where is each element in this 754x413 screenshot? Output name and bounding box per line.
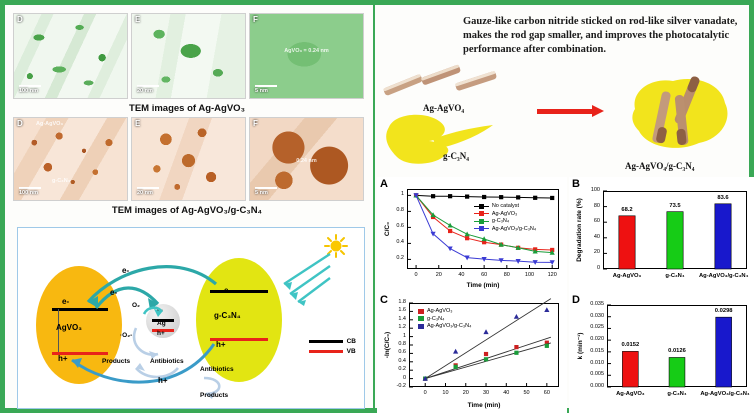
y-tick-label: 80 (569, 203, 600, 209)
legend-label: No catalyst (492, 203, 519, 209)
data-point (484, 357, 488, 361)
bar (715, 204, 731, 269)
legend-marker (418, 316, 424, 321)
cb-legend-label: CB (347, 338, 356, 345)
y-tick-label: 0.005 (569, 371, 604, 377)
x-tick-label: 30 (476, 390, 496, 396)
graphical-abstract-poster: D 100 nm E 20 nm F AgVO₃ = 0.24 nm 5 nm … (0, 0, 754, 413)
data-point (448, 247, 453, 252)
photocatalysis-mechanism-diagram: e- h+ AgVO₃ e- h+ g-C₃N₄ e- Ag h+ (17, 227, 365, 409)
bar-category-label: g-C₃N₄ (654, 391, 701, 397)
data-point (484, 352, 488, 356)
bar-value-label: 73.5 (653, 203, 697, 209)
y-tick-label: 0.000 (569, 383, 604, 389)
data-point (544, 307, 549, 312)
scale-bar: 5 nm (255, 85, 277, 94)
hole-transfer-label: h+ (158, 376, 168, 385)
y-axis-title: Degradation rate (%) (576, 191, 583, 269)
reaction-arrow (537, 109, 593, 114)
vb-legend-swatch (309, 350, 343, 353)
y-tick-label: 0.010 (569, 360, 604, 366)
legend-marker (418, 324, 424, 329)
legend-marker (474, 221, 489, 222)
legend-marker (474, 206, 489, 207)
y-tick-label: 0.8 (377, 341, 406, 347)
y-axis-title: C/C₀ (384, 189, 391, 269)
bar-category-label: Ag-AgVO₃ (603, 273, 651, 279)
chart-panel-c: C-0.200.20.40.60.811.21.41.61.8010203040… (377, 293, 567, 413)
legend-label: Ag-AgVO₃/g-C₃N₄ (492, 226, 536, 232)
bar-category-label: Ag-AgVO₃/g-C₃N₄ (699, 273, 747, 279)
y-tick-label: 1.8 (377, 299, 406, 305)
data-point (454, 365, 458, 369)
legend-label: g-C₃N₄ (492, 218, 509, 224)
legend-item: Ag-AgVO₃/g-C₃N₄ (474, 226, 536, 232)
lattice-spacing-label: 0.24 nm (296, 158, 316, 164)
products-label-1: Products (102, 358, 130, 365)
x-tick-label: 0 (415, 390, 435, 396)
chart-legend: No catalystAg-AgVO₃g-C₃N₄Ag-AgVO₃/g-C₃N₄ (471, 201, 539, 235)
bar-value-label: 0.0298 (702, 308, 746, 314)
lattice-spacing-label: AgVO₃ = 0.24 nm (284, 48, 329, 54)
scale-bar: 100 nm (19, 85, 41, 94)
data-point (499, 195, 503, 199)
x-tick-label: 20 (429, 272, 449, 278)
x-tick-label: 10 (435, 390, 455, 396)
scale-bar: 20 nm (137, 85, 159, 94)
oxygen-label: O₂ (132, 302, 140, 309)
y-tick-label: 40 (569, 234, 600, 240)
y-tick-label: 0.025 (569, 324, 604, 330)
y-tick-label: 1 (377, 333, 406, 339)
legend-item: Ag-AgVO₃ (418, 308, 471, 314)
y-tick-label: 0.035 (569, 301, 604, 307)
bar-category-label: Ag-AgVO₃/g-C₃N₄ (700, 391, 747, 397)
bar-value-label: 68.2 (605, 207, 649, 213)
tem-image-e-top: E 20 nm (131, 13, 246, 99)
tem-image-f-bottom: F 0.24 nm 5 nm (249, 117, 364, 201)
y-tick-label: 20 (569, 249, 600, 255)
y-tick-label: 1.2 (377, 324, 406, 330)
data-point (448, 194, 452, 198)
composite-product-icon (621, 69, 739, 161)
tem-inner-tag-gcn: g-C₃N₄ (52, 178, 70, 184)
legend-item: Ag-AgVO₃/g-C₃N₄ (418, 323, 471, 329)
scale-bar: 100 nm (19, 187, 41, 196)
products-label-2: Products (200, 392, 228, 399)
legend-marker (474, 213, 489, 214)
antibiotics-label-2: Antibiotics (200, 366, 234, 373)
data-point (453, 349, 458, 354)
bar-value-label: 83.6 (701, 195, 745, 201)
legend-marker (418, 309, 424, 314)
electron-transfer-arrows (18, 228, 366, 410)
bar (669, 357, 685, 387)
tem-row-bottom: D Ag-AgVO₃ g-C₃N₄ 100 nm E 20 nm F 0.24 … (13, 117, 364, 201)
y-axis-title: k (min⁻¹) (576, 305, 584, 387)
schematic-sheet-label: g-C₃N₄ (443, 151, 469, 161)
agvo3-rods-icon (381, 63, 501, 107)
legend-label: Ag-AgVO₃/g-C₃N₄ (427, 323, 471, 329)
tem-row-top: D 100 nm E 20 nm F AgVO₃ = 0.24 nm 5 nm (13, 13, 364, 99)
scale-bar: 20 nm (137, 187, 159, 196)
data-point (448, 223, 453, 228)
tem-panel-letter: D (17, 15, 23, 24)
chart-panel-a: A0.20.40.60.81020406080100120No catalyst… (377, 177, 567, 293)
x-tick-label: 20 (456, 390, 476, 396)
x-tick-label: 50 (517, 390, 537, 396)
legend-item: g-C₃N₄ (418, 316, 471, 322)
bar-value-label: 0.0126 (655, 348, 699, 354)
bar-category-label: Ag-AgVO₃ (607, 391, 654, 397)
y-tick-label: 100 (569, 187, 600, 193)
gcn-sheet-icon (381, 109, 511, 175)
chart-panel-d: D0.0000.0050.0100.0150.0200.0250.0300.03… (569, 293, 754, 413)
legend-label: Ag-AgVO₃ (427, 308, 452, 314)
tem-image-e-bottom: E 20 nm (131, 117, 246, 201)
data-point (533, 196, 537, 200)
y-tick-label: -0.2 (377, 383, 406, 389)
x-axis-title: Time (min) (407, 282, 559, 289)
x-tick-label: 40 (451, 272, 471, 278)
data-point (550, 196, 554, 200)
bar-category-label: g-C₃N₄ (651, 273, 699, 279)
y-tick-label: 0 (569, 265, 600, 271)
chart-panel-b: B02040608010068.2Ag-AgVO₃73.5g-C₃N₄83.6A… (569, 177, 754, 293)
tem-image-f-top: F AgVO₃ = 0.24 nm 5 nm (249, 13, 364, 99)
legend-item: No catalyst (474, 203, 536, 209)
y-tick-label: 0.4 (377, 358, 406, 364)
legend-marker-dot (479, 219, 484, 224)
legend-label: g-C₃N₄ (427, 316, 444, 322)
tem-image-d-bottom: D Ag-AgVO₃ g-C₃N₄ 100 nm (13, 117, 128, 201)
data-point (545, 344, 549, 348)
legend-marker (474, 228, 489, 229)
tem-panel-letter: E (135, 119, 140, 128)
data-point (483, 329, 488, 334)
x-tick-label: 40 (496, 390, 516, 396)
cb-legend-swatch (309, 340, 343, 343)
x-tick-label: 60 (537, 390, 557, 396)
y-tick-label: 0.015 (569, 348, 604, 354)
y-tick-label: 0.020 (569, 336, 604, 342)
tem-caption-bottom: TEM images of Ag-AgVO₃/g-C₃N₄ (7, 205, 367, 216)
tem-panel-letter: F (253, 15, 258, 24)
legend-item: g-C₃N₄ (474, 218, 536, 224)
data-point (465, 232, 470, 237)
x-tick-label: 80 (497, 272, 517, 278)
data-point (514, 351, 518, 355)
headline-text: Gauze-like carbon nitride sticked on rod… (463, 15, 751, 57)
tem-caption-top: TEM images of Ag-AgVO₃ (7, 103, 367, 114)
legend-label: Ag-AgVO₃ (492, 211, 517, 217)
tem-panel-letter: D (17, 119, 23, 128)
vb-legend-label: VB (347, 348, 356, 355)
y-axis-title: -ln(C/C₀) (384, 303, 391, 387)
data-point (516, 195, 520, 199)
tem-inner-tag-agvo3: Ag-AgVO₃ (36, 121, 63, 127)
data-point (514, 314, 519, 319)
data-point (431, 194, 435, 198)
legend-marker-dot (479, 211, 484, 216)
x-tick-label: 0 (406, 272, 426, 278)
vertical-divider (373, 5, 375, 408)
data-point (448, 229, 452, 233)
y-tick-label: 60 (569, 218, 600, 224)
x-axis-title: Time (min) (409, 402, 559, 409)
data-point (514, 345, 518, 349)
x-tick-label: 100 (520, 272, 540, 278)
electron-transfer-label-2: e- (110, 288, 117, 297)
antibiotics-label-1: Antibiotics (150, 358, 184, 365)
tem-panel-letter: E (135, 15, 140, 24)
schematic-product-label: Ag-AgVO₄/g-C₃N₄ (625, 161, 694, 171)
tem-image-d-top: D 100 nm (13, 13, 128, 99)
chart-legend: Ag-AgVO₃g-C₃N₄Ag-AgVO₃/g-C₃N₄ (415, 306, 474, 333)
y-tick-label: 1.6 (377, 307, 406, 313)
legend-item: Ag-AgVO₃ (474, 211, 536, 217)
synthesis-schematic: Ag-AgVO₄ g-C₃N₄ Ag-AgVO₄/g-C₃N₄ (377, 63, 754, 175)
data-point (482, 195, 486, 199)
electron-transfer-label-1: e- (122, 266, 129, 275)
bar (622, 351, 638, 387)
y-tick-label: 0.2 (377, 366, 406, 372)
bar-value-label: 0.0152 (608, 342, 652, 348)
tem-panel-letter: F (253, 119, 258, 128)
y-tick-label: 0 (377, 375, 406, 381)
x-tick-label: 60 (474, 272, 494, 278)
bar (667, 212, 683, 269)
y-tick-label: 1.4 (377, 316, 406, 322)
superoxide-label: ·O₂- (120, 332, 132, 339)
data-point (465, 236, 469, 240)
bar (716, 317, 732, 387)
x-tick-label: 120 (542, 272, 562, 278)
band-legend: CB VB (309, 338, 356, 358)
scale-bar: 5 nm (255, 187, 277, 196)
legend-marker-dot (479, 226, 484, 231)
y-tick-label: 0.6 (377, 349, 406, 355)
y-tick-label: 0.030 (569, 313, 604, 319)
data-point (465, 195, 469, 199)
bar (619, 216, 635, 269)
legend-marker-dot (479, 204, 484, 209)
